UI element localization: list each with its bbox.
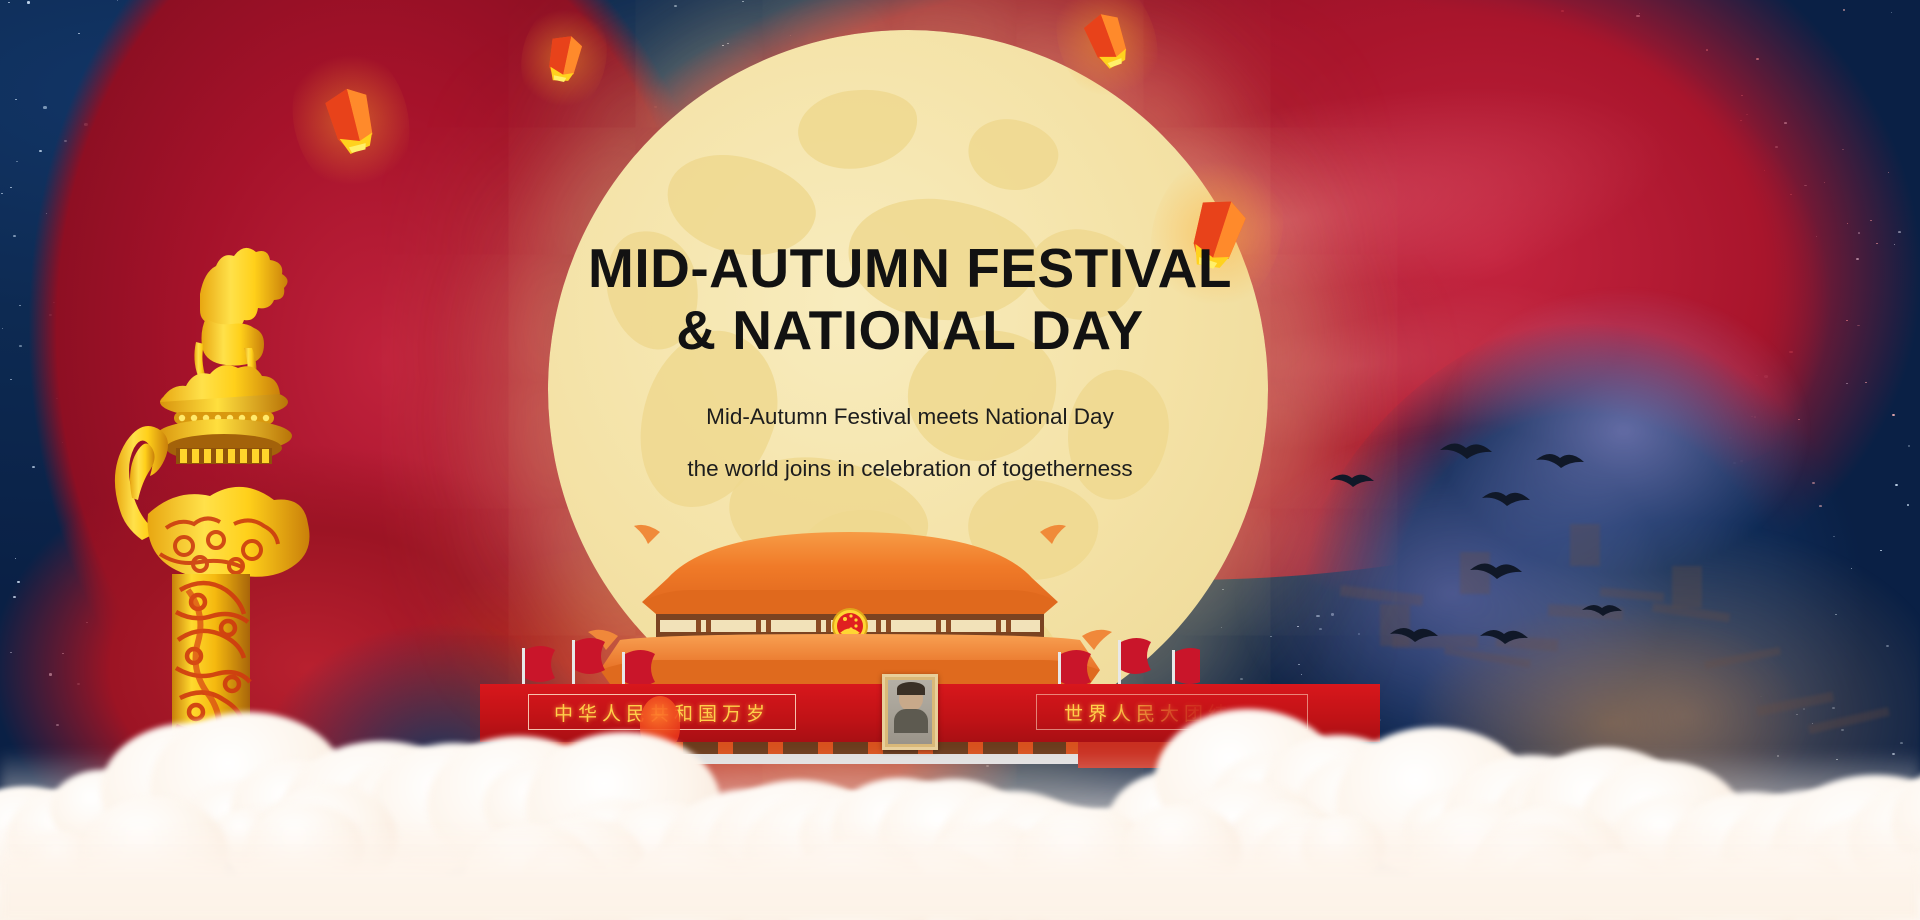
subtitle-line-2: the world joins in celebration of togeth…: [440, 443, 1380, 495]
cloud-carving: [148, 487, 310, 580]
sky-lantern-2: [540, 29, 588, 88]
sky-lantern-3: [1076, 4, 1138, 75]
red-lantern-hanging: [640, 696, 680, 750]
bird-icon: [1582, 605, 1622, 616]
upper-roof: [634, 525, 1066, 614]
moon-crater: [963, 113, 1064, 198]
subtitle-block: Mid-Autumn Festival meets National Day t…: [440, 391, 1380, 495]
bird-icon: [1480, 630, 1528, 644]
moon-crater: [793, 82, 923, 176]
title-line-1: MID-AUTUMN FESTIVAL: [588, 237, 1232, 299]
title-line-2: & NATIONAL DAY: [676, 299, 1143, 361]
slogan-right-text: 世界人民大团结万岁: [1064, 699, 1280, 726]
wall-segment: [1808, 707, 1890, 734]
slogan-right-frame: 世界人民大团结万岁: [1036, 694, 1308, 730]
bird-icon: [1536, 454, 1584, 468]
sky-lantern-1: [317, 80, 384, 161]
watchtower: [1672, 566, 1702, 608]
headline-block: MID-AUTUMN FESTIVAL & NATIONAL DAY Mid-A…: [440, 238, 1380, 495]
wall-segment: [1704, 646, 1781, 669]
bird-icon: [1482, 492, 1530, 506]
red-flag: [575, 638, 605, 674]
wall-segment: [1756, 691, 1834, 716]
bird-icon: [1440, 443, 1492, 459]
gate-banner-strip: 中华人民共和国万岁 世界人民大团结万岁: [480, 676, 1380, 746]
red-flag: [1121, 638, 1151, 674]
column-shaft: [172, 574, 250, 758]
huabiao-column: [88, 198, 338, 758]
page-title: MID-AUTUMN FESTIVAL & NATIONAL DAY: [440, 238, 1380, 361]
festival-banner: MID-AUTUMN FESTIVAL & NATIONAL DAY Mid-A…: [0, 0, 1920, 920]
tiananmen-gate: [500, 500, 1200, 800]
bird-icon: [1470, 563, 1522, 579]
lotus-capital: [156, 365, 292, 464]
bird-icon: [1390, 628, 1438, 642]
subtitle-line-1: Mid-Autumn Festival meets National Day: [440, 391, 1380, 443]
chairman-portrait: [882, 674, 938, 750]
